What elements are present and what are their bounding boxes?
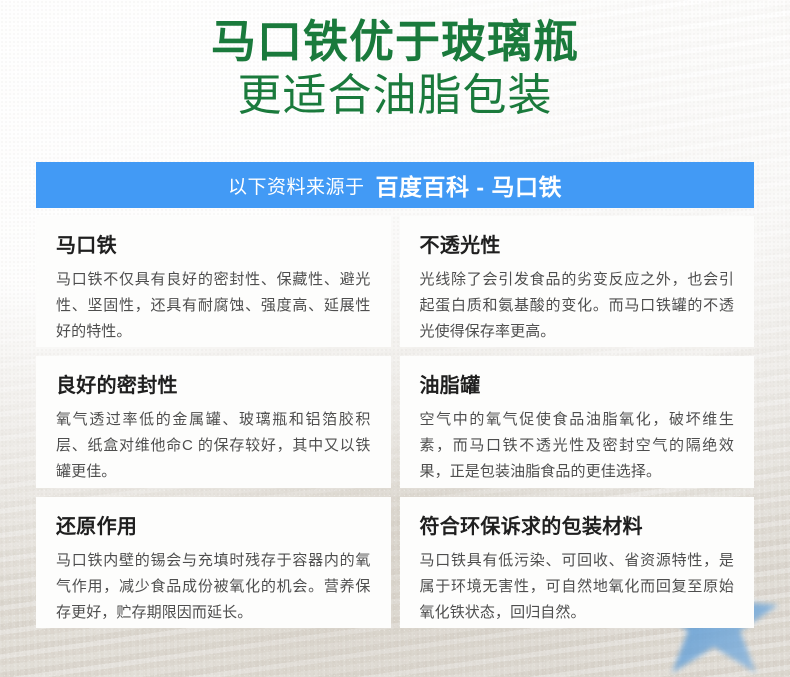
page-title: 马口铁优于玻璃瓶 更适合油脂包装 (0, 14, 790, 123)
card-title: 符合环保诉求的包装材料 (420, 513, 735, 541)
card-title: 不透光性 (420, 232, 735, 260)
card-body: 马口铁具有低污染、可回收、省资源特性，是属于环境无害性，可自然地氧化而回复至原始… (420, 548, 735, 626)
card-body: 马口铁内壁的锡会与充填时残存于容器内的氧气作用，减少食品成份被氧化的机会。营养保… (56, 548, 371, 626)
card-body: 氧气透过率低的金属罐、玻璃瓶和铝箔胶积层、纸盒对维他命C 的保存较好，其中又以铁… (56, 407, 371, 485)
info-card: 不透光性 光线除了会引发食品的劣变反应之外，也会引起蛋白质和氨基酸的变化。而马口… (400, 216, 755, 347)
source-prefix-label: 以下资料来源于 (228, 172, 365, 199)
headline-line-2: 更适合油脂包装 (0, 69, 790, 123)
info-card: 马口铁 马口铁不仅具有良好的密封性、保藏性、避光性、坚固性，还具有耐腐蚀、强度高… (36, 216, 391, 347)
info-card: 油脂罐 空气中的氧气促使食品油脂氧化，破坏维生素，而马口铁不透光性及密封空气的隔… (400, 356, 755, 487)
card-title: 马口铁 (56, 232, 371, 260)
info-card: 符合环保诉求的包装材料 马口铁具有低污染、可回收、省资源特性，是属于环境无害性，… (400, 497, 755, 628)
info-card: 还原作用 马口铁内壁的锡会与充填时残存于容器内的氧气作用，减少食品成份被氧化的机… (36, 497, 391, 628)
card-body: 马口铁不仅具有良好的密封性、保藏性、避光性、坚固性，还具有耐腐蚀、强度高、延展性… (56, 267, 371, 345)
source-bar: 以下资料来源于 百度百科 - 马口铁 (36, 162, 754, 208)
card-title: 良好的密封性 (56, 372, 371, 400)
card-title: 还原作用 (56, 513, 371, 541)
info-card-grid: 马口铁 马口铁不仅具有良好的密封性、保藏性、避光性、坚固性，还具有耐腐蚀、强度高… (36, 216, 754, 628)
headline-line-1: 马口铁优于玻璃瓶 (0, 14, 790, 69)
card-body: 光线除了会引发食品的劣变反应之外，也会引起蛋白质和氨基酸的变化。而马口铁罐的不透… (420, 267, 735, 345)
promo-page: 马口铁优于玻璃瓶 更适合油脂包装 以下资料来源于 百度百科 - 马口铁 马口铁 … (0, 0, 790, 677)
info-card: 良好的密封性 氧气透过率低的金属罐、玻璃瓶和铝箔胶积层、纸盒对维他命C 的保存较… (36, 356, 391, 487)
source-name-label: 百度百科 - 马口铁 (376, 168, 562, 202)
card-title: 油脂罐 (420, 372, 735, 400)
card-body: 空气中的氧气促使食品油脂氧化，破坏维生素，而马口铁不透光性及密封空气的隔绝效果，… (420, 407, 735, 485)
